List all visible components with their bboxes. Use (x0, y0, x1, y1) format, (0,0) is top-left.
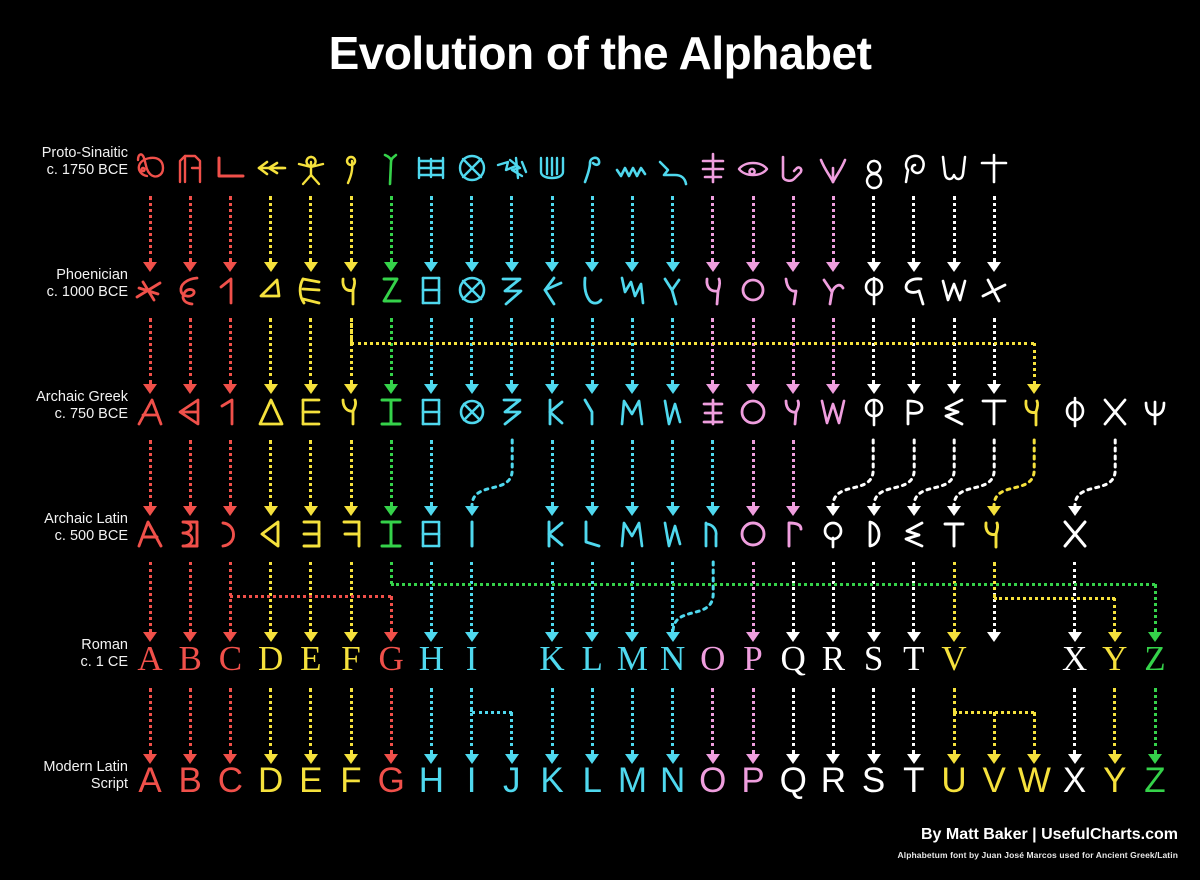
glyph-proto-sinaitic-man-with-raised-arms (289, 148, 333, 188)
connector-phoenician-to-greek-1 (149, 318, 152, 384)
connector-sinaitic-to-phoenician-4 (269, 196, 272, 262)
glyph-proto-sinaitic-snake (651, 148, 695, 188)
row-label-phoenician: Phoenicianc. 1000 BCE (4, 267, 128, 301)
letter-modern-W: W (1012, 763, 1056, 798)
connector-greek-to-latin-2 (189, 440, 192, 506)
arrowhead-modern-12 (585, 754, 599, 764)
connector-sinaitic-to-phoenician-19 (872, 196, 875, 262)
glyph-archaic-greek-xi (691, 392, 735, 432)
connector-v-down (993, 712, 996, 754)
connector-roman-to-modern-14 (671, 688, 674, 754)
connector-phoenician-to-greek-21 (953, 318, 956, 384)
arrowhead-phoenician-2 (183, 262, 197, 272)
letter-roman-L: L (570, 641, 614, 676)
arrowhead-phoenician-20 (907, 262, 921, 272)
letter-roman-G: G (369, 641, 413, 676)
glyph-proto-sinaitic-head (892, 148, 936, 188)
arrowhead-greek-21 (947, 384, 961, 394)
glyph-proto-sinaitic-eye (731, 148, 775, 188)
connector-latin-to-roman-21 (953, 562, 956, 632)
arrowhead-roman-16 (746, 632, 760, 642)
glyph-phoenician-res (892, 270, 936, 310)
connector-sinaitic-to-phoenician-22 (993, 196, 996, 262)
arrowhead-phoenician-17 (786, 262, 800, 272)
connector-sinaitic-to-phoenician-12 (591, 196, 594, 262)
connector-greek-to-latin-7 (390, 440, 393, 506)
glyph-proto-sinaitic-knot (852, 148, 896, 188)
arrowhead-latin-3 (223, 506, 237, 516)
glyph-archaic-greek-kappa (530, 392, 574, 432)
glyph-archaic-greek-gamma (208, 392, 252, 432)
arrowhead-latin-12 (585, 506, 599, 516)
connector-greek-to-latin-8 (430, 440, 433, 506)
arrowhead-modern-11 (545, 754, 559, 764)
connector-greek-to-latin-14 (671, 440, 674, 506)
connector-sinaitic-to-phoenician-18 (832, 196, 835, 262)
connector-sinaitic-to-phoenician-10 (510, 196, 513, 262)
row-label-roman: Romanc. 1 CE (4, 637, 128, 671)
connector-phoenician-to-greek-13 (631, 318, 634, 384)
connector-greek-to-latin-12 (591, 440, 594, 506)
glyph-archaic-latin-H-archaic (409, 514, 453, 554)
arrowhead-greek-1 (143, 384, 157, 394)
row-label-name: Roman (4, 637, 128, 654)
letter-roman-E: E (289, 641, 333, 676)
arrowhead-latin-7 (384, 506, 398, 516)
connector-phoenician-to-greek-9 (470, 318, 473, 384)
letter-modern-Y: Y (1093, 763, 1137, 798)
connector-i-to-j (472, 711, 512, 714)
arrowhead-phoenician-16 (746, 262, 760, 272)
letter-modern-D: D (249, 763, 293, 798)
glyph-archaic-latin-D-variant (852, 514, 896, 554)
glyph-phoenician-nun (651, 270, 695, 310)
connector-sinaitic-to-phoenician-5 (309, 196, 312, 262)
glyph-archaic-latin-D-reversed (249, 514, 293, 554)
letter-modern-U: U (932, 763, 976, 798)
arrowhead-phoenician-18 (826, 262, 840, 272)
glyph-proto-sinaitic-wheel (450, 148, 494, 188)
connector-latin-to-roman-1 (149, 562, 152, 632)
glyph-archaic-latin-M-archaic (610, 514, 654, 554)
connector-latin-to-roman-9 (470, 562, 473, 632)
arrowhead-phoenician-14 (666, 262, 680, 272)
page-title: Evolution of the Alphabet (0, 26, 1200, 80)
arrowhead-greek-19 (867, 384, 881, 394)
letter-roman-H: H (409, 641, 453, 676)
connector-sinaitic-to-phoenician-8 (430, 196, 433, 262)
arrowhead-greek-6 (344, 384, 358, 394)
arrowhead-greek-2 (183, 384, 197, 394)
glyph-archaic-latin-B-reversed (168, 514, 212, 554)
glyph-proto-sinaitic-mark (972, 148, 1016, 188)
arrowhead-greek-5 (304, 384, 318, 394)
glyph-proto-sinaitic-throwstick (208, 148, 252, 188)
connector-roman-to-modern-7 (390, 688, 393, 754)
letter-modern-B: B (168, 763, 212, 798)
glyph-archaic-latin-N-archaic (651, 514, 695, 554)
letter-modern-H: H (409, 763, 453, 798)
glyph-archaic-greek-digamma (329, 392, 373, 432)
connector-latin-to-roman-20 (912, 562, 915, 632)
glyph-archaic-latin-X-archaic (1053, 514, 1097, 554)
row-label-archaic-greek: Archaic Greekc. 750 BCE (4, 389, 128, 423)
arrowhead-modern-18 (826, 754, 840, 764)
arrowhead-roman-5 (304, 632, 318, 642)
connector-phoenician-to-greek-17 (792, 318, 795, 384)
connector-v-branch-down (993, 562, 996, 598)
glyph-phoenician-mem (610, 270, 654, 310)
row-label-name: Modern Latin (4, 759, 128, 776)
arrowhead-roman-20 (907, 632, 921, 642)
glyph-archaic-latin-Z-archaic (369, 514, 413, 554)
row-label-date: c. 1750 BCE (4, 162, 128, 179)
glyph-phoenician-zayin (369, 270, 413, 310)
connector-sinaitic-to-phoenician-1 (149, 196, 152, 262)
arrowhead-modern-15 (706, 754, 720, 764)
glyph-proto-sinaitic-goad (570, 148, 614, 188)
arrowhead-latin-9 (465, 506, 479, 516)
connector-greek-to-latin-23-22 (986, 440, 1042, 511)
arrowhead-modern-25 (1108, 754, 1122, 764)
glyph-archaic-latin-Q-archaic (811, 514, 855, 554)
arrowhead-greek-16 (746, 384, 760, 394)
connector-latin-to-roman-19 (872, 562, 875, 632)
arrowhead-latin-8 (424, 506, 438, 516)
glyph-archaic-greek-upsilon (1012, 392, 1056, 432)
glyph-proto-sinaitic-fence (409, 148, 453, 188)
connector-roman-to-modern-15 (711, 688, 714, 754)
glyph-archaic-greek-theta (450, 392, 494, 432)
connector-phoenician-to-greek-7 (390, 318, 393, 384)
glyph-phoenician-het (409, 270, 453, 310)
connector-roman-to-modern-4 (269, 688, 272, 754)
connector-upsilon-down (1033, 343, 1036, 384)
connector-phoenician-to-greek-10 (510, 318, 513, 384)
connector-greek-to-latin-6 (350, 440, 353, 506)
arrowhead-phoenician-4 (264, 262, 278, 272)
arrowhead-modern-26 (1148, 754, 1162, 764)
glyph-phoenician-sade (811, 270, 855, 310)
arrowhead-latin-4 (264, 506, 278, 516)
arrowhead-roman-26 (1148, 632, 1162, 642)
arrowhead-latin-14 (666, 506, 680, 516)
glyph-proto-sinaitic-hand (490, 148, 534, 188)
letter-roman-B: B (168, 641, 212, 676)
arrowhead-roman-3 (223, 632, 237, 642)
connector-greek-to-latin-15 (711, 440, 714, 506)
row-label-date: c. 1 CE (4, 654, 128, 671)
arrowhead-modern-23 (1027, 754, 1041, 764)
arrowhead-greek-3 (223, 384, 237, 394)
connector-c-branch-down (229, 562, 232, 596)
glyph-phoenician-yod (490, 270, 534, 310)
letter-modern-O: O (691, 763, 735, 798)
letter-roman-Y: Y (1093, 641, 1137, 676)
arrowhead-roman-13 (625, 632, 639, 642)
glyph-archaic-latin-N-variant (691, 514, 735, 554)
glyph-proto-sinaitic-house (168, 148, 212, 188)
glyph-archaic-greek-rho (892, 392, 936, 432)
arrowhead-greek-12 (585, 384, 599, 394)
arrowhead-modern-22 (987, 754, 1001, 764)
letter-roman-C: C (208, 641, 252, 676)
connector-phoenician-to-greek-4 (269, 318, 272, 384)
arrowhead-roman-17 (786, 632, 800, 642)
connector-latin-to-roman-18 (832, 562, 835, 632)
connector-greek-to-latin-1 (149, 440, 152, 506)
arrowhead-roman-21 (947, 632, 961, 642)
glyph-phoenician-tet (450, 270, 494, 310)
connector-roman-y-down (1113, 598, 1116, 632)
connector-roman-z-down (1154, 584, 1157, 632)
glyph-proto-sinaitic-teeth (932, 148, 976, 188)
arrowhead-phoenician-12 (585, 262, 599, 272)
connector-greek-to-latin-10-9 (464, 440, 520, 511)
arrowhead-latin-24 (1068, 506, 1082, 516)
connector-greek-to-latin-11 (551, 440, 554, 506)
alphabet-evolution-chart: Evolution of the Alphabet By Matt Baker … (0, 0, 1200, 880)
arrowhead-greek-17 (786, 384, 800, 394)
arrowhead-roman-22 (987, 632, 1001, 642)
glyph-proto-sinaitic-water (610, 148, 654, 188)
letter-modern-S: S (852, 763, 896, 798)
connector-sinaitic-to-phoenician-15 (711, 196, 714, 262)
connector-roman-to-modern-24 (1073, 688, 1076, 754)
connector-sinaitic-to-phoenician-20 (912, 196, 915, 262)
arrowhead-modern-9 (465, 754, 479, 764)
letter-modern-I: I (450, 763, 494, 798)
connector-z-branch-down (390, 562, 393, 584)
connector-roman-to-modern-5 (309, 688, 312, 754)
row-label-proto-sinaitic: Proto-Sinaiticc. 1750 BCE (4, 145, 128, 179)
arrowhead-greek-4 (264, 384, 278, 394)
credit-font-note: Alphabetum font by Juan José Marcos used… (898, 850, 1179, 860)
arrowhead-phoenician-22 (987, 262, 1001, 272)
row-label-modern-latin: Modern LatinScript (4, 759, 128, 793)
glyph-phoenician-giml (208, 270, 252, 310)
connector-roman-to-modern-25 (1113, 688, 1116, 754)
arrowhead-modern-24 (1068, 754, 1082, 764)
connector-sinaitic-to-phoenician-16 (752, 196, 755, 262)
connector-phoenician-to-greek-15 (711, 318, 714, 384)
glyph-phoenician-sin (932, 270, 976, 310)
connector-roman-to-modern-13 (631, 688, 634, 754)
arrowhead-latin-16 (746, 506, 760, 516)
arrowhead-roman-4 (264, 632, 278, 642)
glyph-archaic-greek-chi (1093, 392, 1137, 432)
glyph-archaic-greek-alpha (128, 392, 172, 432)
arrowhead-roman-9 (465, 632, 479, 642)
arrowhead-latin-6 (344, 506, 358, 516)
arrowhead-roman-25 (1108, 632, 1122, 642)
glyph-archaic-greek-pi (771, 392, 815, 432)
connector-sinaitic-to-phoenician-13 (631, 196, 634, 262)
connector-waw-branch-down (350, 318, 353, 343)
letter-modern-P: P (731, 763, 775, 798)
connector-greek-to-latin-17 (792, 440, 795, 506)
arrowhead-latin-17 (786, 506, 800, 516)
connector-greek-to-latin-13 (631, 440, 634, 506)
connector-v-split-down (953, 688, 956, 712)
glyph-archaic-greek-delta (249, 392, 293, 432)
letter-modern-X: X (1053, 763, 1097, 798)
arrowhead-phoenician-13 (625, 262, 639, 272)
glyph-phoenician-qop (852, 270, 896, 310)
row-label-date: c. 1000 BCE (4, 284, 128, 301)
connector-latin-to-roman-2 (189, 562, 192, 632)
arrowhead-roman-6 (344, 632, 358, 642)
letter-roman-D: D (249, 641, 293, 676)
arrowhead-latin-2 (183, 506, 197, 516)
connector-phoenician-to-greek-3 (229, 318, 232, 384)
connector-phoenician-to-greek-12 (591, 318, 594, 384)
arrowhead-modern-7 (384, 754, 398, 764)
arrowhead-latin-15 (706, 506, 720, 516)
connector-greek-to-latin-4 (269, 440, 272, 506)
connector-g-down (390, 596, 393, 632)
connector-roman-to-modern-6 (350, 688, 353, 754)
connector-sinaitic-to-phoenician-9 (470, 196, 473, 262)
arrowhead-greek-18 (826, 384, 840, 394)
letter-roman-M: M (610, 641, 654, 676)
arrowhead-latin-1 (143, 506, 157, 516)
connector-greek-to-latin-3 (229, 440, 232, 506)
letter-modern-L: L (570, 763, 614, 798)
letter-roman-P: P (731, 641, 775, 676)
glyph-archaic-greek-phi (1053, 392, 1097, 432)
letter-modern-E: E (289, 763, 333, 798)
arrowhead-modern-20 (907, 754, 921, 764)
row-label-date: c. 500 BCE (4, 528, 128, 545)
connector-i-branch-down (470, 688, 473, 712)
letter-modern-Q: Q (771, 763, 815, 798)
credit-line: By Matt Baker | UsefulCharts.com (921, 826, 1178, 844)
arrowhead-latin-22 (987, 506, 1001, 516)
connector-z-to-roman-z (391, 583, 1155, 586)
glyph-phoenician-pe (771, 270, 815, 310)
letter-roman-S: S (852, 641, 896, 676)
connector-roman-to-modern-11 (551, 688, 554, 754)
glyph-archaic-greek-beta (168, 392, 212, 432)
arrowhead-modern-6 (344, 754, 358, 764)
arrowhead-phoenician-10 (505, 262, 519, 272)
letter-roman-X: X (1053, 641, 1097, 676)
letter-roman-F: F (329, 641, 373, 676)
arrowhead-modern-21 (947, 754, 961, 764)
connector-roman-to-modern-1 (149, 688, 152, 754)
glyph-archaic-latin-F-reversed (329, 514, 373, 554)
glyph-proto-sinaitic-plant (369, 148, 413, 188)
connector-sinaitic-to-phoenician-3 (229, 196, 232, 262)
arrowhead-modern-3 (223, 754, 237, 764)
arrowhead-phoenician-9 (465, 262, 479, 272)
arrowhead-modern-5 (304, 754, 318, 764)
connector-roman-to-modern-17 (792, 688, 795, 754)
connector-latin-to-roman-16 (752, 562, 755, 632)
arrowhead-latin-19 (867, 506, 881, 516)
arrowhead-phoenician-11 (545, 262, 559, 272)
glyph-archaic-greek-iota (490, 392, 534, 432)
letter-modern-G: G (369, 763, 413, 798)
connector-latin-nvariant-to-roman-n (665, 562, 721, 637)
arrowhead-roman-2 (183, 632, 197, 642)
connector-sinaitic-to-phoenician-11 (551, 196, 554, 262)
arrowhead-phoenician-6 (344, 262, 358, 272)
glyph-phoenician-bet (168, 270, 212, 310)
arrowhead-roman-1 (143, 632, 157, 642)
arrowhead-roman-7 (384, 632, 398, 642)
letter-modern-V: V (972, 763, 1016, 798)
arrowhead-greek-8 (424, 384, 438, 394)
connector-sinaitic-to-phoenician-2 (189, 196, 192, 262)
glyph-archaic-greek-lambda (570, 392, 614, 432)
glyph-archaic-greek-epsilon (289, 392, 333, 432)
connector-phoenician-to-greek-20 (912, 318, 915, 384)
row-label-name: Proto-Sinaitic (4, 145, 128, 162)
glyph-archaic-latin-E-reversed (289, 514, 333, 554)
arrowhead-latin-11 (545, 506, 559, 516)
connector-sinaitic-to-phoenician-17 (792, 196, 795, 262)
glyph-archaic-greek-omicron (731, 392, 775, 432)
glyph-proto-sinaitic-fish-sign (691, 148, 735, 188)
glyph-archaic-latin-I-archaic (450, 514, 494, 554)
connector-w-down (1033, 712, 1036, 754)
letter-modern-A: A (128, 763, 172, 798)
arrowhead-modern-13 (625, 754, 639, 764)
arrowhead-roman-18 (826, 632, 840, 642)
letter-roman-A: A (128, 641, 172, 676)
glyph-phoenician-kap (530, 270, 574, 310)
glyph-proto-sinaitic-hook (329, 148, 373, 188)
row-label-date: Script (4, 776, 128, 793)
arrowhead-latin-21 (947, 506, 961, 516)
arrowhead-modern-4 (264, 754, 278, 764)
connector-phoenician-to-greek-2 (189, 318, 192, 384)
letter-modern-T: T (892, 763, 936, 798)
glyph-archaic-greek-mu (610, 392, 654, 432)
row-label-name: Phoenician (4, 267, 128, 284)
connector-roman-to-modern-8 (430, 688, 433, 754)
glyph-archaic-latin-A-reversed (128, 514, 172, 554)
arrowhead-modern-14 (666, 754, 680, 764)
arrowhead-greek-7 (384, 384, 398, 394)
glyph-archaic-latin-C-reversed (208, 514, 252, 554)
arrowhead-phoenician-19 (867, 262, 881, 272)
arrowhead-greek-10 (505, 384, 519, 394)
arrowhead-greek-20 (907, 384, 921, 394)
connector-sinaitic-to-phoenician-21 (953, 196, 956, 262)
letter-roman-R: R (811, 641, 855, 676)
arrowhead-phoenician-21 (947, 262, 961, 272)
connector-latin-to-roman-8 (430, 562, 433, 632)
connector-greek-to-latin-5 (309, 440, 312, 506)
connector-c-to-g (230, 595, 391, 598)
glyph-archaic-greek-tau (972, 392, 1016, 432)
glyph-archaic-greek-eta (409, 392, 453, 432)
arrowhead-phoenician-8 (424, 262, 438, 272)
glyph-phoenician-dalet (249, 270, 293, 310)
arrowhead-greek-14 (666, 384, 680, 394)
arrowhead-latin-13 (625, 506, 639, 516)
letter-modern-J: J (490, 763, 534, 798)
glyph-archaic-latin-O-archaic (731, 514, 775, 554)
arrowhead-modern-10 (505, 754, 519, 764)
letter-roman-T: T (892, 641, 936, 676)
connector-roman-to-modern-18 (832, 688, 835, 754)
connector-phoenician-to-greek-18 (832, 318, 835, 384)
connector-roman-to-modern-3 (229, 688, 232, 754)
